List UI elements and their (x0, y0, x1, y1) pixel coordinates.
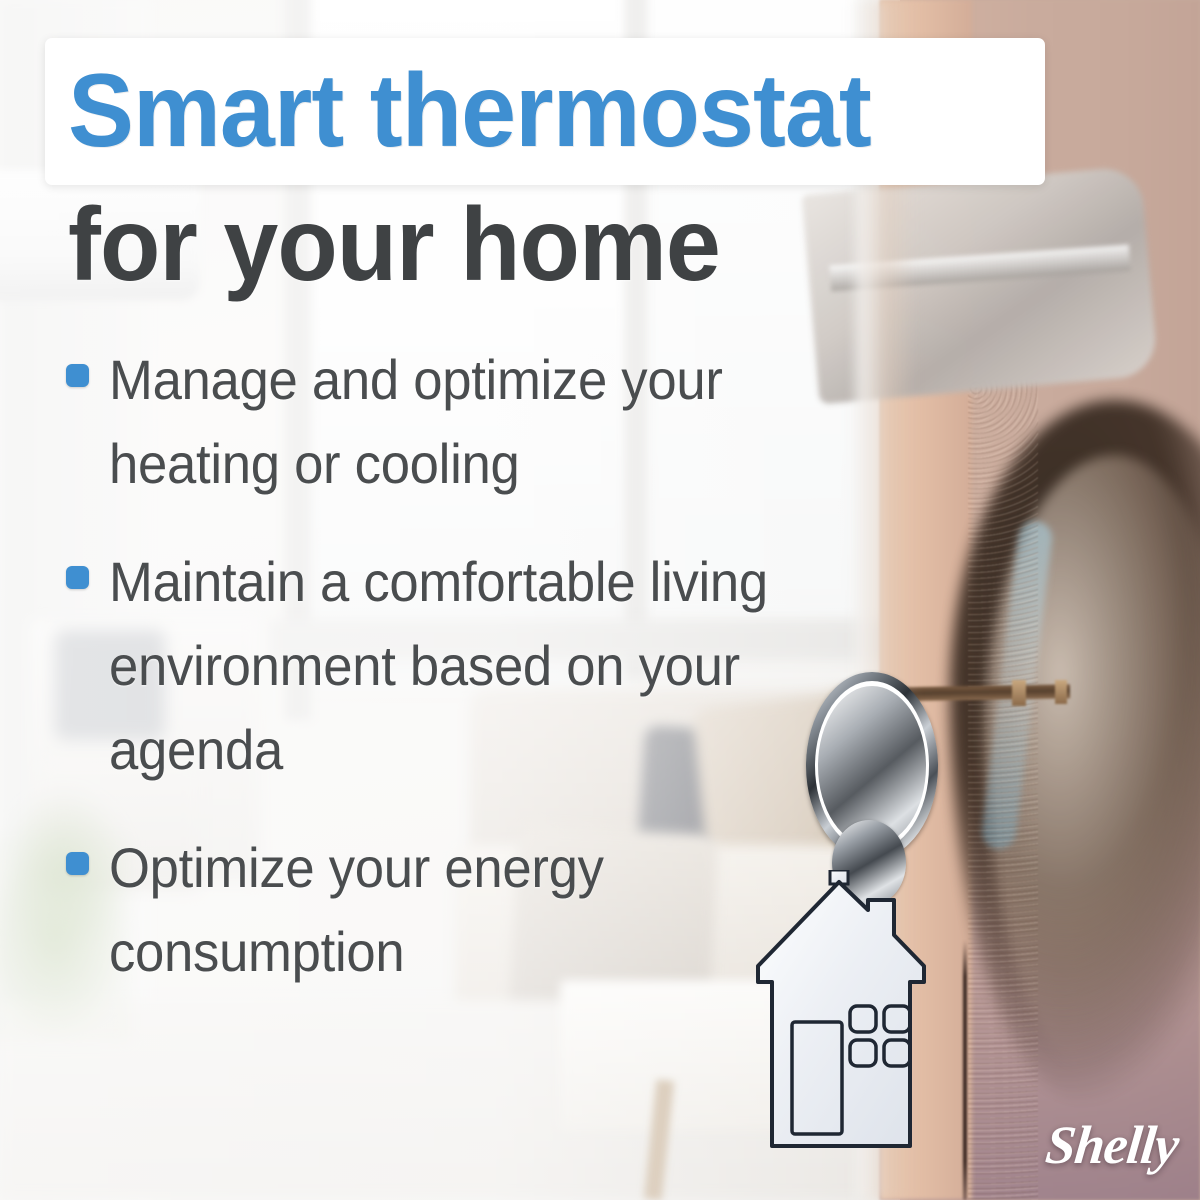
bullet-marker-icon (66, 364, 89, 387)
bullet-text: Manage and optimize your heating or cool… (109, 338, 821, 506)
bullet-marker-icon (66, 852, 89, 875)
bullet-text: Maintain a comfortable living environmen… (109, 540, 821, 792)
list-item: Maintain a comfortable living environmen… (66, 540, 866, 792)
headline-line-2: for your home (68, 186, 999, 304)
headline-line-1: Smart thermostat (68, 52, 999, 170)
feature-bullet-list: Manage and optimize your heating or cool… (66, 338, 866, 1028)
list-item: Optimize your energy consumption (66, 826, 866, 994)
list-item: Manage and optimize your heating or cool… (66, 338, 866, 506)
bullet-text: Optimize your energy consumption (109, 826, 821, 994)
bullet-marker-icon (66, 566, 89, 589)
marketing-content: Smart thermostat for your home Manage an… (0, 0, 1200, 1200)
shelly-logo: Shelly (1043, 1114, 1182, 1176)
